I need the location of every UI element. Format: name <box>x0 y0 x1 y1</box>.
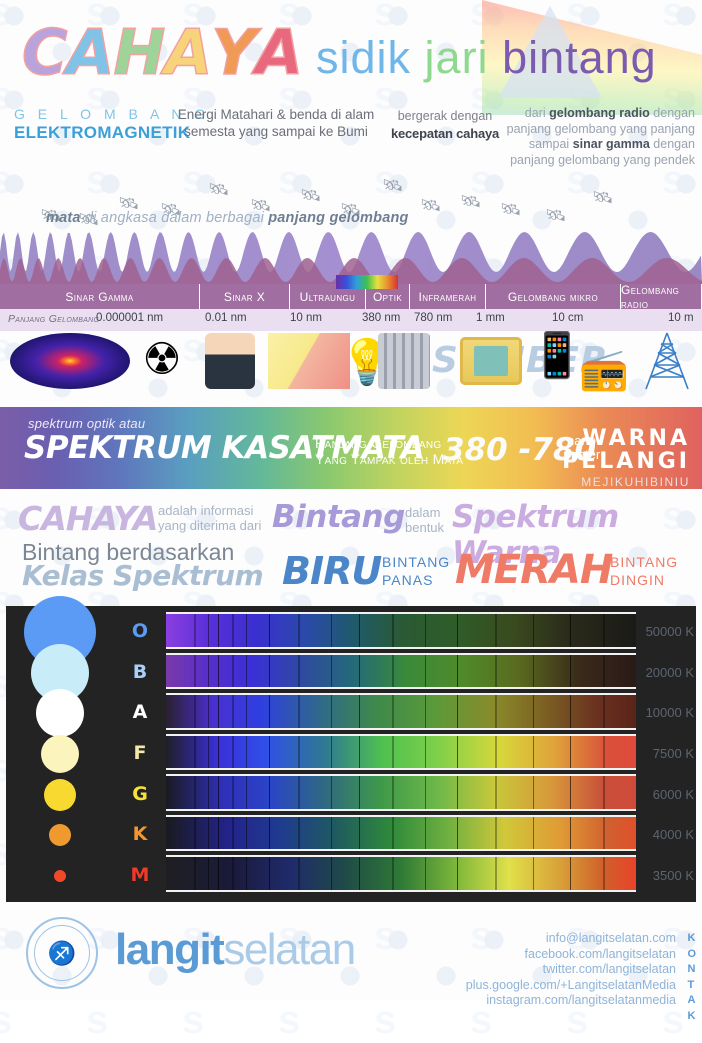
page-title: CAHAYA <box>22 22 302 84</box>
wavelength-tick-6: 1 mm <box>476 312 505 324</box>
star-disc-G <box>44 779 76 811</box>
star-disc-A <box>36 689 84 737</box>
kasat-pelangi: PELANGI <box>562 450 690 473</box>
gamma-sky-map-icon <box>10 333 130 389</box>
absorption-line <box>457 857 458 890</box>
heater-radiator-icon <box>378 333 430 389</box>
absorption-line <box>232 736 234 769</box>
wavelength-tick-1: 0.000001 nm <box>96 312 163 324</box>
em-band-gelombang-mikro[interactable]: Gelombang mikro <box>486 284 621 309</box>
absorption-line <box>331 655 332 688</box>
xray-patient-icon <box>205 333 255 389</box>
absorption-line <box>232 655 234 688</box>
absorption-line <box>359 614 360 647</box>
absorption-line <box>269 857 270 890</box>
absorption-line <box>359 736 360 769</box>
absorption-line <box>331 817 332 850</box>
absorption-line <box>425 695 426 728</box>
absorption-line <box>457 776 458 809</box>
radiation-hazard-icon: ☢ <box>138 335 186 383</box>
absorption-line <box>298 857 300 890</box>
optical-rainbow-marker <box>336 275 398 289</box>
kontak-letter: O <box>687 947 696 963</box>
kontak-vertical-label: KONTAK <box>687 931 696 1024</box>
absorption-line <box>392 736 394 769</box>
satellite-icon: 🛰 <box>500 200 522 220</box>
contact-link-2[interactable]: facebook.com/langitselatan <box>466 947 676 963</box>
midtext-section: CAHAYA adalah informasi yang diterima da… <box>0 495 702 595</box>
absorption-line <box>331 776 332 809</box>
absorption-line <box>533 614 534 647</box>
absorption-line <box>208 857 209 890</box>
absorption-line <box>570 695 571 728</box>
absorption-line <box>603 857 605 890</box>
brand-langit: langit <box>115 925 223 974</box>
absorption-line <box>570 655 571 688</box>
absorption-line <box>392 614 394 647</box>
intro-range-part-2: gelombang radio <box>549 106 650 120</box>
absorption-line <box>232 695 234 728</box>
absorption-line <box>457 695 458 728</box>
absorption-line <box>246 655 247 688</box>
title-letter-5: Y <box>211 22 255 84</box>
satellite-icon: 🛰 <box>208 180 230 200</box>
spectrum-strip-G <box>166 774 636 811</box>
absorption-line <box>425 736 426 769</box>
wavelength-scale-row: Panjang Gelombang 0.000001 nm0.01 nm10 n… <box>0 309 702 331</box>
absorption-line <box>392 695 394 728</box>
wave-caption-bold2: panjang gelombang <box>268 210 408 226</box>
spectral-class-column: OBAFGKM <box>114 606 166 902</box>
mid-bintang: Bintang <box>272 499 405 535</box>
page-subtitle: sidik jari bintang <box>316 32 657 84</box>
absorption-line <box>457 614 458 647</box>
mid-adalah-l1: adalah informasi <box>158 503 261 518</box>
intro-energy-text: Energi Matahari & benda di alam semesta … <box>176 106 376 140</box>
spectral-class-label-F[interactable]: F <box>114 742 166 764</box>
mid-biru: BIRU <box>282 549 381 593</box>
infographic-page: ssssssssssssssssssssssssssssssssssssssss… <box>0 0 702 1000</box>
satellite-icon: 🛰 <box>382 176 404 196</box>
spectrum-strip-B <box>166 653 636 690</box>
absorption-line <box>603 695 605 728</box>
absorption-line <box>194 857 196 890</box>
kontak-letter: N <box>687 962 696 978</box>
em-band-inframerah[interactable]: Inframerah <box>410 284 486 309</box>
absorption-line <box>218 736 219 769</box>
contact-list: info@langitselatan.comfacebook.com/langi… <box>466 931 676 1009</box>
star-disc-F <box>41 735 79 773</box>
mid-dingin-l2: DINGIN <box>610 571 678 589</box>
contact-link-5[interactable]: instagram.com/langitselatanmedia <box>466 993 676 1009</box>
visible-spectrum-banner: spektrum optik atau SPEKTRUM KASATMATA P… <box>0 407 702 489</box>
absorption-line <box>298 817 300 850</box>
seal-centaur-icon: ♐ <box>34 925 90 981</box>
subtitle-word-3: bintang <box>502 32 657 83</box>
watermark-glyph: s <box>374 998 396 1043</box>
kasat-warna-pelangi: WARNA PELANGI MEJIKUHIBINIU <box>562 427 690 489</box>
kasat-pg-line1: Panjang Gelombang <box>315 435 463 451</box>
title-letter-6: A <box>255 22 302 84</box>
absorption-line <box>194 695 196 728</box>
absorption-line <box>570 817 571 850</box>
absorption-line <box>495 695 497 728</box>
watermark-glyph: s <box>86 998 108 1043</box>
spectrum-strip-F <box>166 734 636 771</box>
absorption-line <box>359 817 360 850</box>
absorption-line <box>208 776 209 809</box>
spectral-class-label-K[interactable]: K <box>114 823 166 845</box>
kasat-wavelength-caption: Panjang Gelombang Yang Tampak oleh Mata <box>315 435 463 467</box>
absorption-line <box>457 736 458 769</box>
absorption-line <box>194 776 196 809</box>
star-disc-K <box>49 824 71 846</box>
subtitle-word-2: jari <box>425 32 489 83</box>
mid-panas-l1: BINTANG <box>382 553 450 571</box>
spectral-class-label-M[interactable]: M <box>114 864 166 886</box>
wavelength-tick-2: 0.01 nm <box>205 312 247 324</box>
absorption-line <box>495 736 497 769</box>
absorption-line <box>359 776 360 809</box>
absorption-line <box>218 655 219 688</box>
brand-selatan: selatan <box>223 925 354 974</box>
spectrum-strips-column <box>166 606 636 902</box>
absorption-line <box>298 614 300 647</box>
absorption-line <box>218 857 219 890</box>
em-band-gelombang-radio[interactable]: Gelombang radio <box>621 284 702 309</box>
absorption-line <box>269 614 270 647</box>
satellite-icon: 🛰 <box>420 196 442 216</box>
title-letter-1: C <box>22 22 67 84</box>
temperature-label-F: 7500 K <box>653 746 694 761</box>
absorption-line <box>298 695 300 728</box>
mid-dalam-l1: dalam <box>405 505 444 520</box>
radio-receiver-icon: 📻 <box>578 349 630 389</box>
absorption-line <box>218 614 219 647</box>
wavelength-tick-3: 10 nm <box>290 312 322 324</box>
absorption-line <box>208 736 209 769</box>
spectrum-strip-O <box>166 612 636 649</box>
absorption-line <box>331 614 332 647</box>
source-icons-row: ☢💡📱📻 <box>0 331 702 405</box>
absorption-line <box>246 776 247 809</box>
absorption-line <box>331 695 332 728</box>
mid-merah: MERAH <box>455 547 612 593</box>
spectrum-strip-M <box>166 855 636 892</box>
kasat-warna: WARNA <box>562 427 690 450</box>
absorption-line <box>603 655 605 688</box>
satellite-icon: 🛰 <box>592 188 614 208</box>
mobile-phone-icon: 📱 <box>540 331 574 379</box>
kontak-letter: K <box>687 931 696 947</box>
absorption-line <box>533 776 534 809</box>
absorption-line <box>603 614 605 647</box>
absorption-line <box>425 614 426 647</box>
mid-dalam-bentuk: dalam bentuk <box>405 505 444 535</box>
absorption-line <box>194 736 196 769</box>
absorption-line <box>246 695 247 728</box>
absorption-line <box>246 736 247 769</box>
watermark-glyph: s <box>182 998 204 1043</box>
title-letter-3: H <box>114 22 165 84</box>
footer: ♐ langitselatan info@langitselatan.comfa… <box>0 905 702 1000</box>
spectrum-strip-A <box>166 693 636 730</box>
absorption-line <box>425 776 426 809</box>
mid-bintang-panas: BINTANG PANAS <box>382 553 450 589</box>
kontak-letter: T <box>687 978 696 994</box>
absorption-line <box>269 736 270 769</box>
absorption-line <box>232 817 234 850</box>
satellite-icon: 🛰 <box>460 192 482 212</box>
subtitle-word-1: sidik <box>316 32 411 83</box>
intro-text-row: G E L O M B A N G ELEKTROMAGNETIK Energi… <box>0 104 702 164</box>
temperature-column: 50000 K20000 K10000 K7500 K6000 K4000 K3… <box>630 606 702 902</box>
title-letter-2: A <box>67 22 114 84</box>
intro-range-text: dari gelombang radio dengan panjang gelo… <box>505 106 695 168</box>
wavelength-tick-4: 380 nm <box>362 312 400 324</box>
kontak-letter: K <box>687 1009 696 1025</box>
absorption-line <box>194 614 196 647</box>
temperature-label-G: 6000 K <box>653 787 694 802</box>
absorption-line <box>570 614 571 647</box>
absorption-line <box>331 857 332 890</box>
absorption-line <box>495 857 497 890</box>
microwave-window <box>474 346 509 376</box>
watermark-glyph: s <box>278 998 300 1043</box>
absorption-line <box>425 655 426 688</box>
absorption-line <box>533 736 534 769</box>
absorption-line <box>603 736 605 769</box>
contact-link-1[interactable]: info@langitselatan.com <box>466 931 676 947</box>
title-letter-4: A <box>164 22 211 84</box>
wave-illustration: 🛰🛰🛰🛰🛰🛰🛰🛰🛰🛰🛰🛰🛰🛰 mata di angkasa dalam ber… <box>0 166 702 284</box>
absorption-line <box>208 695 209 728</box>
absorption-line <box>533 857 534 890</box>
temperature-label-K: 4000 K <box>653 827 694 842</box>
wave-caption-rest: di angkasa dalam berbagai <box>81 210 269 226</box>
absorption-line <box>269 695 270 728</box>
em-band-sinar-x[interactable]: Sinar X <box>200 284 290 309</box>
absorption-line <box>246 817 247 850</box>
absorption-line <box>495 655 497 688</box>
absorption-line <box>425 857 426 890</box>
absorption-line <box>232 614 234 647</box>
absorption-line <box>298 655 300 688</box>
header: CAHAYA sidik jari bintang <box>0 0 702 100</box>
absorption-line <box>232 776 234 809</box>
absorption-line <box>457 655 458 688</box>
absorption-line <box>359 857 360 890</box>
wavelength-tick-8: 10 m <box>668 312 694 324</box>
intro-range-part-1: dari <box>525 106 549 120</box>
langitselatan-seal-icon: ♐ <box>26 917 98 989</box>
wavelength-tick-7: 10 cm <box>552 312 583 324</box>
spectrum-strip-K <box>166 815 636 852</box>
absorption-line <box>218 695 219 728</box>
em-band-sinar-gamma[interactable]: Sinar Gamma <box>0 284 200 309</box>
kasat-pg-line2: Yang Tampak oleh Mata <box>315 451 463 467</box>
absorption-line <box>570 776 571 809</box>
radio-tower-icon <box>640 331 694 391</box>
absorption-line <box>246 857 247 890</box>
temperature-label-B: 20000 K <box>646 665 694 680</box>
kasat-small-label: spektrum optik atau <box>28 416 145 431</box>
absorption-line <box>495 817 497 850</box>
intro-kecepatan-label: kecepatan cahaya <box>391 126 499 141</box>
absorption-line <box>331 736 332 769</box>
mid-bintang-dingin: BINTANG DINGIN <box>610 553 678 589</box>
spectral-class-label-G[interactable]: G <box>114 783 166 805</box>
absorption-line <box>570 857 571 890</box>
absorption-line <box>194 655 196 688</box>
absorption-line <box>269 776 270 809</box>
mid-cahaya: CAHAYA <box>18 499 157 538</box>
absorption-line <box>603 817 605 850</box>
mid-panas-l2: PANAS <box>382 571 450 589</box>
wave-caption-bold: mata <box>46 210 81 226</box>
mid-kelas-spektrum: Kelas Spektrum <box>22 559 263 592</box>
absorption-line <box>208 655 209 688</box>
absorption-line <box>392 776 394 809</box>
intro-bergerak-label: bergerak dengan <box>385 108 505 125</box>
ultraviolet-sunbathing-icon <box>268 333 350 389</box>
absorption-line <box>194 817 196 850</box>
temperature-label-M: 3500 K <box>653 868 694 883</box>
absorption-line <box>359 695 360 728</box>
absorption-line <box>603 776 605 809</box>
absorption-line <box>495 776 497 809</box>
satellite-icon: 🛰 <box>300 186 322 206</box>
watermark-glyph: s <box>0 998 12 1043</box>
absorption-line <box>298 776 300 809</box>
microwave-oven-icon <box>460 337 522 385</box>
mid-dingin-l1: BINTANG <box>610 553 678 571</box>
absorption-line <box>570 736 571 769</box>
absorption-line <box>246 614 247 647</box>
absorption-line <box>392 817 394 850</box>
temperature-label-A: 10000 K <box>646 705 694 720</box>
mid-adalah-l2: yang diterima dari <box>158 518 261 533</box>
kasat-mejikuhibiniu: MEJIKUHIBINIU <box>562 475 690 489</box>
star-disc-M <box>54 870 66 882</box>
spectral-class-label-A[interactable]: A <box>114 701 166 723</box>
wavelength-tick-5: 780 nm <box>414 312 452 324</box>
contact-link-3[interactable]: twitter.com/langitselatan <box>466 962 676 978</box>
spectral-class-chart: OBAFGKM <box>6 606 696 902</box>
absorption-line <box>208 817 209 850</box>
absorption-line <box>533 655 534 688</box>
wavelength-caption: Panjang Gelombang <box>8 313 99 325</box>
star-size-column <box>6 606 114 902</box>
absorption-line <box>208 614 209 647</box>
absorption-line <box>269 655 270 688</box>
contact-link-4[interactable]: plus.google.com/+LangitselatanMedia <box>466 978 676 994</box>
mid-adalah-informasi: adalah informasi yang diterima dari <box>158 503 261 533</box>
absorption-line <box>457 817 458 850</box>
absorption-line <box>533 695 534 728</box>
spectral-class-label-B[interactable]: B <box>114 661 166 683</box>
absorption-line <box>392 655 394 688</box>
intro-range-part-4: sinar gamma <box>573 137 650 151</box>
absorption-line <box>533 817 534 850</box>
wave-caption: mata di angkasa dalam berbagai panjang g… <box>46 210 409 226</box>
temperature-label-O: 50000 K <box>646 624 694 639</box>
brand-wordmark: langitselatan <box>115 925 355 975</box>
intro-speed-text: bergerak dengan kecepatan cahaya <box>385 108 505 143</box>
absorption-line <box>425 817 426 850</box>
absorption-line <box>232 857 234 890</box>
mid-dalam-l2: bentuk <box>405 520 444 535</box>
absorption-line <box>495 614 497 647</box>
kontak-letter: A <box>687 993 696 1009</box>
absorption-line <box>392 857 394 890</box>
absorption-line <box>359 655 360 688</box>
absorption-line <box>298 736 300 769</box>
absorption-line <box>218 817 219 850</box>
absorption-line <box>269 817 270 850</box>
spectral-class-label-O[interactable]: O <box>114 620 166 642</box>
absorption-line <box>218 776 219 809</box>
